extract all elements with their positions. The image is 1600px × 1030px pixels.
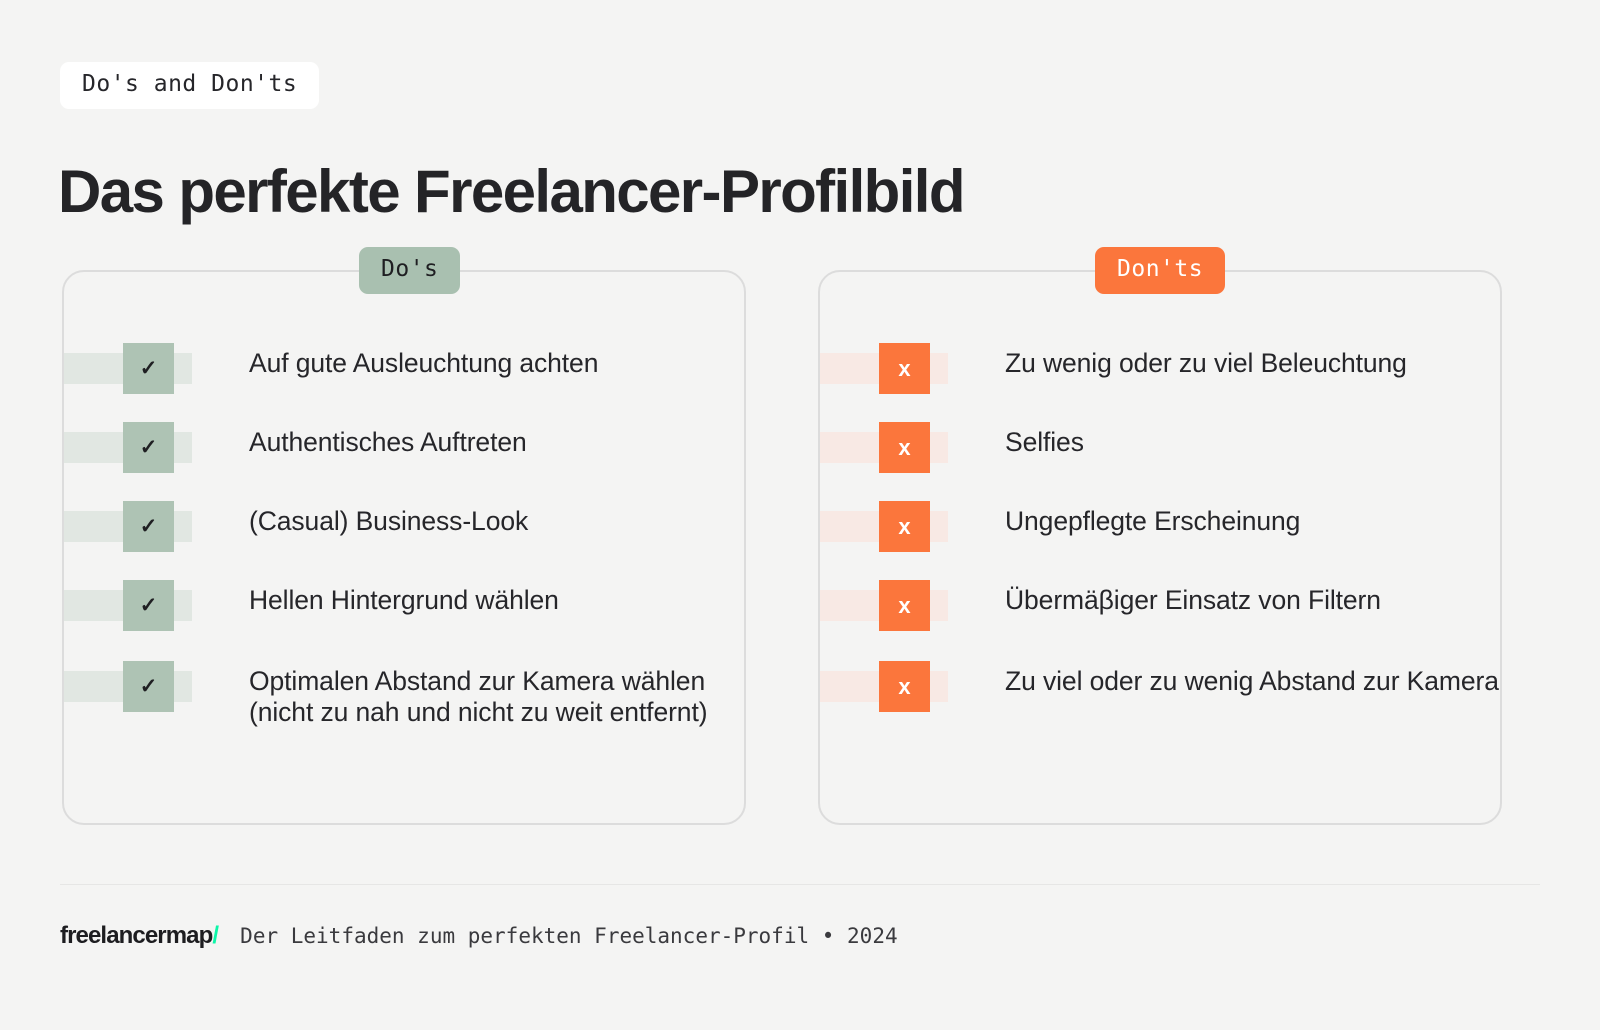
donts-badge: Don'ts [1095,247,1225,294]
check-icon: ✓ [123,422,174,473]
check-icon: ✓ [123,661,174,712]
cross-icon: x [879,343,930,394]
cross-icon: x [879,422,930,473]
eyebrow-badge: Do's and Don'ts [60,62,319,109]
list-item-label: Zu wenig oder zu viel Beleuchtung [1005,348,1515,379]
list-item-label: Auf gute Ausleuchtung achten [249,348,719,379]
list-item-label: Optimalen Abstand zur Kamera wählen (nic… [249,666,719,728]
brand-logo: freelancermap/ [60,922,218,950]
dos-badge: Do's [359,247,460,294]
infographic-page: Do's and Don'ts Das perfekte Freelancer-… [0,0,1600,1030]
dos-card: ✓Auf gute Ausleuchtung achten✓Authentisc… [62,270,746,825]
check-icon: ✓ [123,580,174,631]
footer-caption: Der Leitfaden zum perfekten Freelancer-P… [240,924,897,948]
list-item-label: Zu viel oder zu wenig Abstand zur Kamera [1005,666,1515,697]
brand-logo-name: freelancermap [60,922,212,949]
check-icon: ✓ [123,501,174,552]
list-item-label: Ungepflegte Erscheinung [1005,506,1515,537]
list-item-label: Übermäβiger Einsatz von Filtern [1005,585,1515,616]
list-item-label: Selfies [1005,427,1515,458]
check-icon: ✓ [123,343,174,394]
list-item-label: Authentisches Auftreten [249,427,719,458]
footer-divider [60,884,1540,885]
footer: freelancermap/ Der Leitfaden zum perfekt… [60,922,898,950]
cross-icon: x [879,580,930,631]
page-title: Das perfekte Freelancer-Profilbild [58,158,964,225]
list-item-label: (Casual) Business-Look [249,506,719,537]
list-item-label: Hellen Hintergrund wählen [249,585,719,616]
donts-card: xZu wenig oder zu viel BeleuchtungxSelfi… [818,270,1502,825]
brand-logo-slash: / [212,922,218,949]
cross-icon: x [879,661,930,712]
cross-icon: x [879,501,930,552]
